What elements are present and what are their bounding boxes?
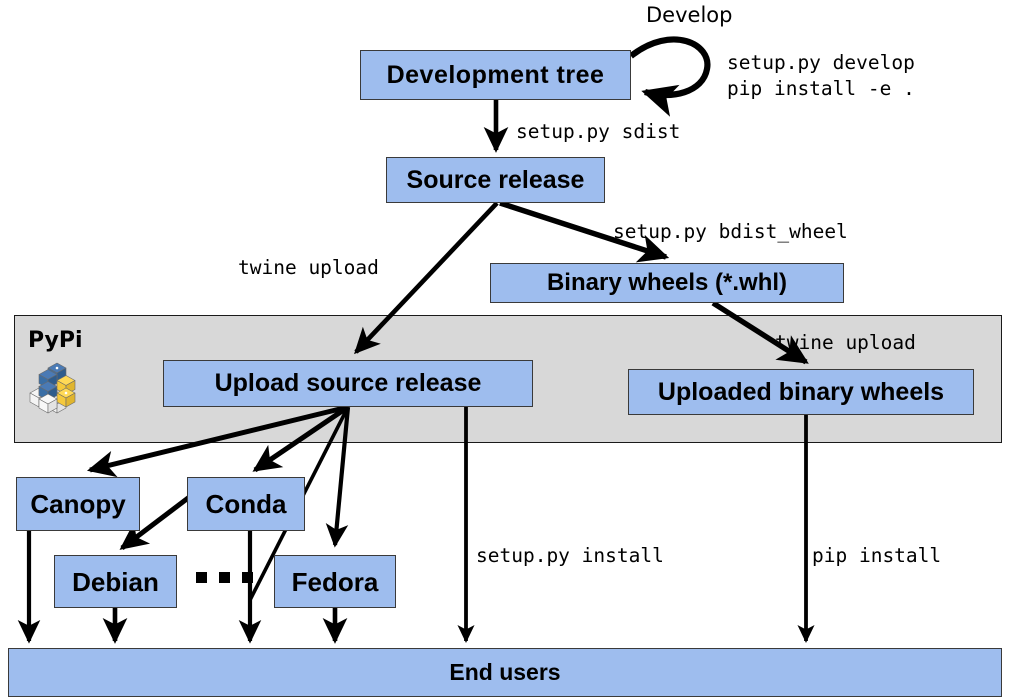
node-uploaded-binary-wheels-label: Uploaded binary wheels bbox=[658, 380, 944, 405]
diagram-canvas: PyPi bbox=[0, 0, 1009, 698]
node-binary-wheels-label: Binary wheels (*.whl) bbox=[547, 271, 787, 295]
pypi-panel-label: PyPi bbox=[28, 328, 83, 353]
ellipsis-dot bbox=[219, 572, 230, 583]
edge-label-pip-install: pip install bbox=[812, 544, 941, 567]
node-development-tree-label: Development tree bbox=[387, 63, 605, 88]
node-end-users-label: End users bbox=[449, 661, 560, 684]
node-canopy[interactable]: Canopy bbox=[16, 477, 140, 531]
edge-label-develop: Develop bbox=[646, 3, 732, 27]
edge-label-sdist: setup.py sdist bbox=[516, 120, 680, 143]
node-uploaded-binary-wheels[interactable]: Uploaded binary wheels bbox=[628, 369, 974, 415]
node-source-release-label: Source release bbox=[407, 168, 585, 193]
edge-develop-loop bbox=[631, 39, 707, 95]
node-fedora-label: Fedora bbox=[292, 569, 379, 595]
node-development-tree[interactable]: Development tree bbox=[360, 50, 631, 100]
edge-label-twine-upload-wheels: twine upload bbox=[775, 331, 916, 354]
ellipsis-marker bbox=[196, 572, 256, 584]
ellipsis-dot bbox=[242, 572, 253, 583]
ellipsis-dot bbox=[196, 572, 207, 583]
node-upload-source-release[interactable]: Upload source release bbox=[163, 360, 533, 407]
node-fedora[interactable]: Fedora bbox=[274, 555, 396, 608]
node-debian-label: Debian bbox=[72, 569, 159, 595]
edge-label-bdist-wheel: setup.py bdist_wheel bbox=[613, 220, 848, 243]
node-debian[interactable]: Debian bbox=[54, 555, 177, 608]
node-binary-wheels[interactable]: Binary wheels (*.whl) bbox=[490, 263, 844, 303]
node-source-release[interactable]: Source release bbox=[386, 157, 605, 203]
python-cubes-logo-icon bbox=[28, 358, 88, 416]
node-canopy-label: Canopy bbox=[30, 491, 125, 517]
node-conda-label: Conda bbox=[206, 491, 287, 517]
edge-label-twine-upload-source: twine upload bbox=[238, 256, 379, 279]
edge-label-setup-develop: setup.py develop pip install -e . bbox=[727, 50, 915, 103]
edge-label-setup-install: setup.py install bbox=[476, 544, 664, 567]
node-conda[interactable]: Conda bbox=[187, 477, 305, 531]
node-upload-source-release-label: Upload source release bbox=[215, 371, 482, 396]
node-end-users[interactable]: End users bbox=[8, 648, 1002, 697]
